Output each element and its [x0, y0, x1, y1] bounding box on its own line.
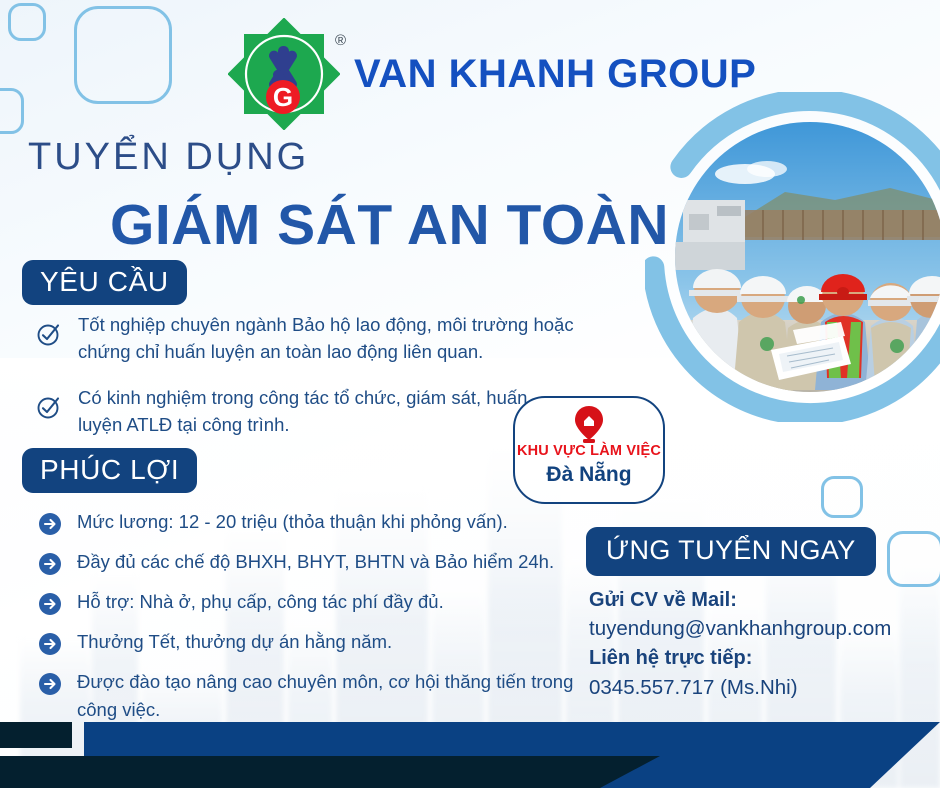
- benefit-item: Thưởng Tết, thưởng dự án hằng năm.: [38, 628, 583, 656]
- benefit-item: Hỗ trợ: Nhà ở, phụ cấp, công tác phí đầy…: [38, 588, 583, 616]
- mail-label: Gửi CV về Mail:: [589, 586, 939, 614]
- brand-name: VAN KHANH GROUP: [354, 52, 756, 97]
- requirement-item: Tốt nghiệp chuyên ngành Bảo hộ lao động,…: [36, 312, 576, 365]
- page-kicker: TUYỂN DỤNG: [28, 136, 309, 179]
- check-circle-icon: [36, 394, 62, 420]
- requirements-list: Tốt nghiệp chuyên ngành Bảo hộ lao động,…: [36, 312, 576, 459]
- work-location-card: KHU VỰC LÀM VIỆC Đà Nẵng: [513, 396, 665, 504]
- check-circle-icon: [36, 321, 62, 347]
- arrow-circle-icon: [38, 672, 62, 696]
- benefit-item: Đầy đủ các chế độ BHXH, BHYT, BHTN và Bả…: [38, 548, 583, 576]
- page-title: GIÁM SÁT AN TOÀN: [110, 192, 669, 258]
- benefit-item: Mức lương: 12 - 20 triệu (thỏa thuận khi…: [38, 508, 583, 536]
- decor-square-right-small: [821, 476, 863, 518]
- construction-team-photo: [675, 122, 940, 392]
- benefit-text: Thưởng Tết, thưởng dự án hằng năm.: [77, 628, 392, 656]
- benefit-text: Hỗ trợ: Nhà ở, phụ cấp, công tác phí đầy…: [77, 588, 444, 616]
- map-pin-icon: [572, 404, 606, 444]
- contact-block: Gửi CV về Mail: tuyendung@vankhanhgroup.…: [589, 586, 939, 702]
- decor-square-right-large: [887, 531, 940, 587]
- logo-star-shape: G: [228, 18, 340, 130]
- requirements-badge: YÊU CẦU: [22, 260, 187, 305]
- apply-now-button[interactable]: ỨNG TUYỂN NGAY: [586, 527, 876, 576]
- mail-value[interactable]: tuyendung@vankhanhgroup.com: [589, 614, 939, 644]
- requirement-item: Có kinh nghiệm trong công tác tổ chức, g…: [36, 385, 576, 438]
- requirement-text: Tốt nghiệp chuyên ngành Bảo hộ lao động,…: [78, 312, 576, 365]
- recruitment-poster: G ® VAN KHANH GROUP TUYỂN DỤNG GIÁM SÁT …: [0, 0, 940, 788]
- benefits-badge: PHÚC LỢI: [22, 448, 197, 493]
- work-location-label: KHU VỰC LÀM VIỆC: [517, 444, 661, 459]
- work-location-city: Đà Nẵng: [546, 464, 631, 485]
- site-photo-frame: [645, 92, 940, 422]
- registered-trademark-icon: ®: [335, 32, 346, 49]
- decor-square-top-left-small: [8, 3, 46, 41]
- benefit-text: Mức lương: 12 - 20 triệu (thỏa thuận khi…: [77, 508, 508, 536]
- footer-bands: [0, 696, 940, 788]
- phone-label: Liên hệ trực tiếp:: [589, 644, 939, 672]
- arrow-circle-icon: [38, 552, 62, 576]
- arrow-circle-icon: [38, 632, 62, 656]
- requirement-text: Có kinh nghiệm trong công tác tổ chức, g…: [78, 385, 576, 438]
- benefit-text: Đầy đủ các chế độ BHXH, BHYT, BHTN và Bả…: [77, 548, 554, 576]
- decor-square-top-left-large: [74, 6, 172, 104]
- svg-text:G: G: [273, 82, 293, 112]
- van-khanh-logo-icon: G ®: [228, 18, 340, 130]
- arrow-circle-icon: [38, 592, 62, 616]
- footer-shapes-icon: [0, 696, 940, 788]
- site-photo: [675, 122, 940, 392]
- arrow-circle-icon: [38, 512, 62, 536]
- decor-square-left-edge: [0, 88, 24, 134]
